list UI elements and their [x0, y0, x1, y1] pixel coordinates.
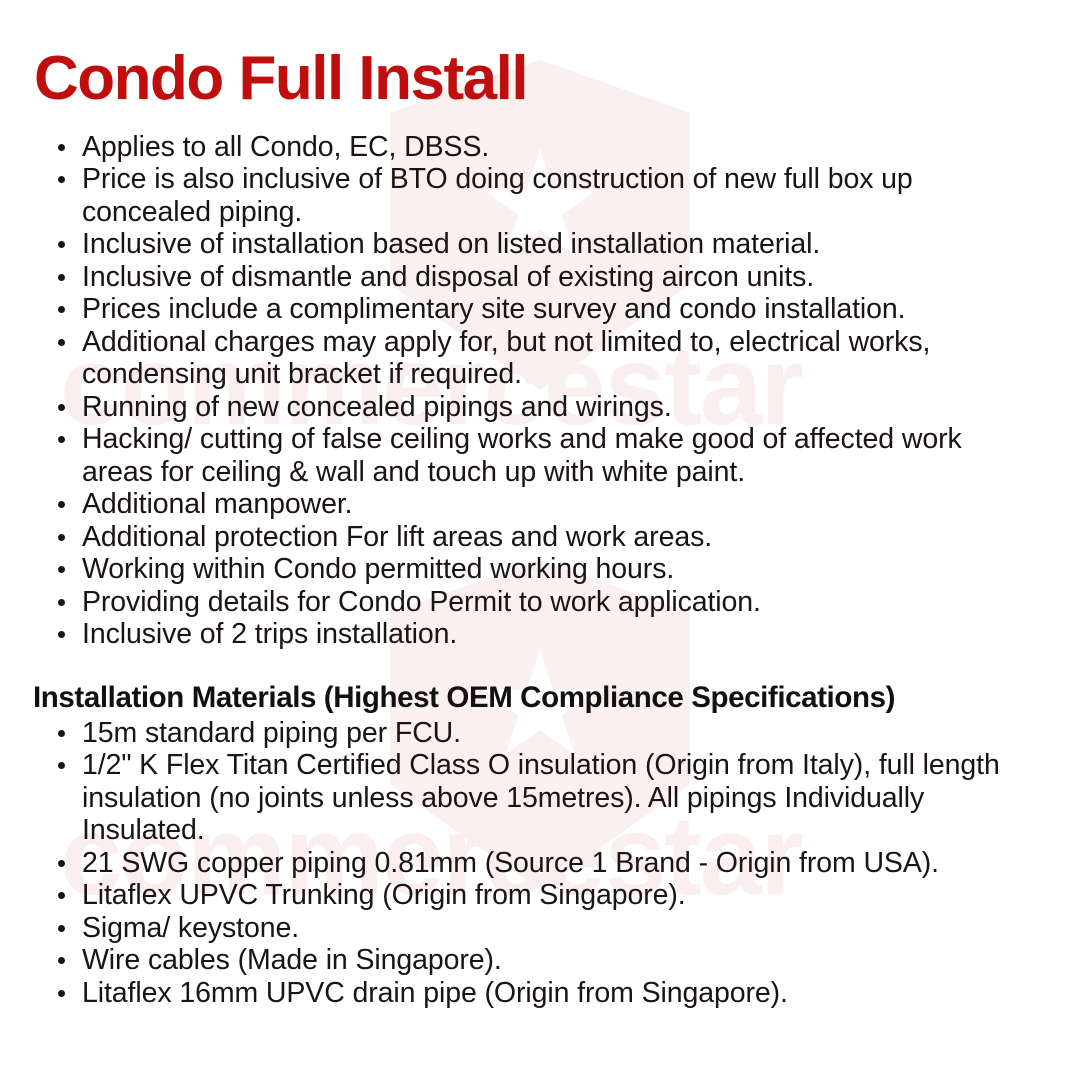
- bullet-dot-icon: [58, 274, 65, 281]
- general-term-item: Hacking/ cutting of false ceiling works …: [0, 423, 1080, 488]
- general-term-item-label: Providing details for Condo Permit to wo…: [82, 586, 761, 618]
- installation-material-item-label: Litaflex UPVC Trunking (Origin from Sing…: [82, 879, 686, 911]
- general-term-item-label: Prices include a complimentary site surv…: [82, 293, 905, 325]
- installation-material-item-label: Litaflex 16mm UPVC drain pipe (Origin fr…: [82, 977, 788, 1009]
- installation-material-item: Sigma/ keystone.: [0, 912, 1080, 945]
- bullet-dot-icon: [58, 860, 65, 867]
- bullet-dot-icon: [58, 534, 65, 541]
- installation-material-item-label: 21 SWG copper piping 0.81mm (Source 1 Br…: [82, 847, 939, 879]
- general-term-item-label: Hacking/ cutting of false ceiling works …: [82, 423, 962, 488]
- general-terms-list: Applies to all Condo, EC, DBSS.Price is …: [0, 131, 1080, 651]
- bullet-dot-icon: [58, 925, 65, 932]
- installation-material-item-label: Sigma/ keystone.: [82, 912, 299, 944]
- general-term-item-label: Additional manpower.: [82, 488, 353, 520]
- general-term-item: Working within Condo permitted working h…: [0, 553, 1080, 586]
- installation-material-item: 1/2" K Flex Titan Certified Class O insu…: [0, 749, 1080, 847]
- general-term-item-label: Inclusive of dismantle and disposal of e…: [82, 261, 814, 293]
- bullet-dot-icon: [58, 957, 65, 964]
- bullet-dot-icon: [58, 241, 65, 248]
- general-term-item-label: Additional protection For lift areas and…: [82, 521, 712, 553]
- general-term-item: Applies to all Condo, EC, DBSS.: [0, 131, 1080, 164]
- general-term-item-label: Additional charges may apply for, but no…: [82, 326, 930, 391]
- bullet-dot-icon: [58, 599, 65, 606]
- installation-materials-heading: Installation Materials (Highest OEM Comp…: [0, 651, 1080, 717]
- general-term-item: Additional protection For lift areas and…: [0, 521, 1080, 554]
- general-term-item: Inclusive of 2 trips installation.: [0, 618, 1080, 651]
- installation-material-item-label: 15m standard piping per FCU.: [82, 717, 461, 749]
- bullet-dot-icon: [58, 566, 65, 573]
- installation-material-item-label: Wire cables (Made in Singapore).: [82, 944, 502, 976]
- general-term-item: Inclusive of installation based on liste…: [0, 228, 1080, 261]
- bullet-dot-icon: [58, 306, 65, 313]
- bullet-dot-icon: [58, 436, 65, 443]
- installation-material-item: Litaflex UPVC Trunking (Origin from Sing…: [0, 879, 1080, 912]
- bullet-dot-icon: [58, 990, 65, 997]
- document-content: Condo Full Install Applies to all Condo,…: [0, 0, 1080, 1009]
- general-term-item: Prices include a complimentary site surv…: [0, 293, 1080, 326]
- general-term-item: Additional manpower.: [0, 488, 1080, 521]
- general-term-item-label: Inclusive of 2 trips installation.: [82, 618, 457, 650]
- bullet-dot-icon: [58, 176, 65, 183]
- bullet-dot-icon: [58, 339, 65, 346]
- general-term-item: Providing details for Condo Permit to wo…: [0, 586, 1080, 619]
- general-term-item-label: Running of new concealed pipings and wir…: [82, 391, 672, 423]
- installation-material-item: 21 SWG copper piping 0.81mm (Source 1 Br…: [0, 847, 1080, 880]
- general-term-item: Additional charges may apply for, but no…: [0, 326, 1080, 391]
- bullet-dot-icon: [58, 501, 65, 508]
- bullet-dot-icon: [58, 404, 65, 411]
- general-term-item: Price is also inclusive of BTO doing con…: [0, 163, 1080, 228]
- bullet-dot-icon: [58, 892, 65, 899]
- general-term-item-label: Working within Condo permitted working h…: [82, 553, 674, 585]
- general-term-item-label: Price is also inclusive of BTO doing con…: [82, 163, 913, 228]
- bullet-dot-icon: [58, 730, 65, 737]
- installation-material-item: Litaflex 16mm UPVC drain pipe (Origin fr…: [0, 977, 1080, 1010]
- general-term-item-label: Applies to all Condo, EC, DBSS.: [82, 131, 489, 163]
- general-term-item: Running of new concealed pipings and wir…: [0, 391, 1080, 424]
- bullet-dot-icon: [58, 762, 65, 769]
- installation-materials-list: 15m standard piping per FCU.1/2" K Flex …: [0, 717, 1080, 1010]
- installation-material-item: 15m standard piping per FCU.: [0, 717, 1080, 750]
- general-term-item: Inclusive of dismantle and disposal of e…: [0, 261, 1080, 294]
- general-term-item-label: Inclusive of installation based on liste…: [82, 228, 820, 260]
- page-title: Condo Full Install: [0, 0, 1080, 113]
- bullet-dot-icon: [58, 631, 65, 638]
- bullet-dot-icon: [58, 144, 65, 151]
- installation-material-item-label: 1/2" K Flex Titan Certified Class O insu…: [82, 749, 1000, 846]
- installation-material-item: Wire cables (Made in Singapore).: [0, 944, 1080, 977]
